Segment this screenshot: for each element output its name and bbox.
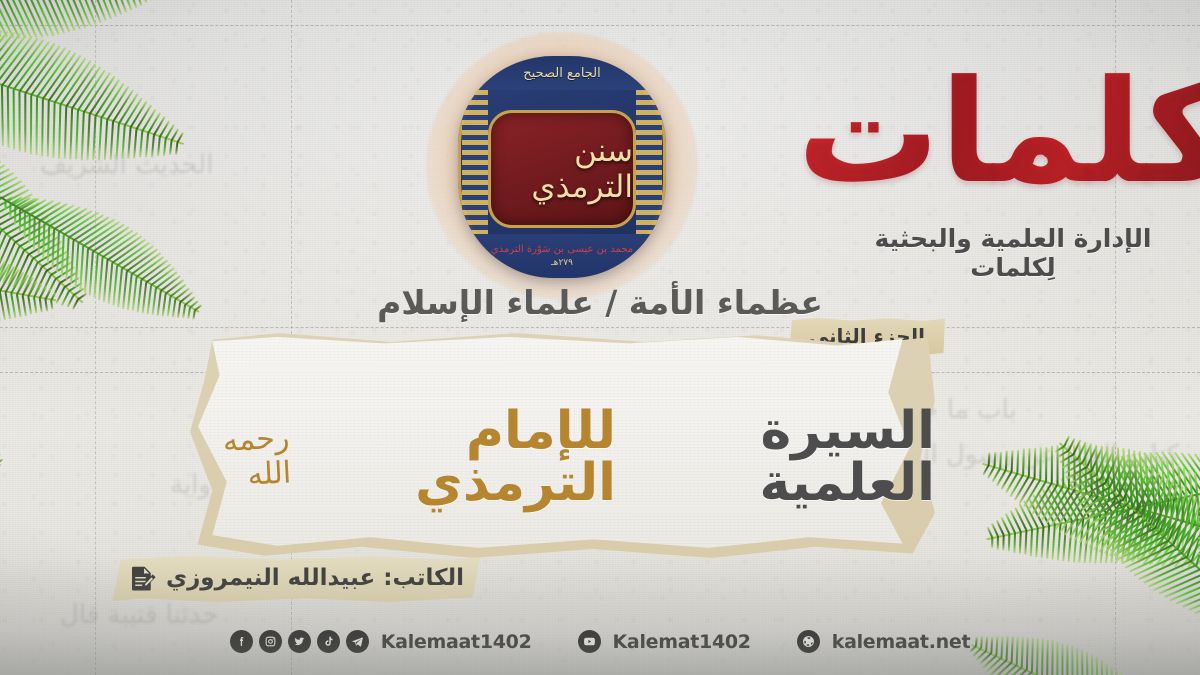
- palm-leaflet: [1094, 514, 1101, 564]
- palm-leaflet: [0, 189, 30, 216]
- palm-leaflet: [42, 52, 77, 100]
- palm-leaflet: [1057, 522, 1062, 560]
- palm-leaflet: [1103, 519, 1147, 543]
- palm-leaflet: [30, 95, 32, 154]
- palm-leaflet: [131, 252, 161, 275]
- palm-leaflet: [39, 0, 60, 35]
- palm-leaflet: [1123, 461, 1141, 499]
- palm-leaflet: [139, 131, 143, 158]
- palm-leaflet: [68, 214, 105, 239]
- book-year-line: ٢٧٩هـ: [551, 258, 573, 268]
- honorific-calligraphy: رحمه الله: [188, 420, 292, 495]
- palm-leaflet: [1042, 488, 1062, 523]
- palm-leaflet: [15, 197, 32, 208]
- palm-leaflet: [102, 232, 139, 258]
- palm-leaflet: [92, 226, 129, 252]
- title-card: السيرة العلمية للإمام الترمذي رحمه الله: [190, 333, 935, 558]
- palm-leaflet: [124, 97, 143, 127]
- palm-leaflet: [1104, 507, 1139, 555]
- palm-leaflet: [98, 0, 112, 19]
- social-group-website: kalemaat.net: [797, 630, 971, 653]
- palm-leaflet: [1030, 529, 1033, 557]
- palm-leaflet: [0, 0, 8, 38]
- palm-leaflet: [27, 0, 49, 37]
- palm-leaflet: [1126, 454, 1158, 502]
- palm-leaflet: [33, 218, 36, 249]
- social-group-youtube: Kalemat1402: [578, 630, 751, 653]
- palm-leaflet: [1176, 584, 1200, 604]
- telegram-icon[interactable]: [346, 630, 369, 653]
- palm-leaflet: [1148, 564, 1197, 588]
- palm-leaflet: [121, 245, 154, 269]
- palm-leaflet: [41, 99, 44, 156]
- palm-leaflet: [0, 193, 33, 219]
- palm-leaflet: [74, 243, 79, 287]
- palm-leaflet: [1019, 531, 1022, 554]
- palm-leaflet: [1150, 454, 1157, 512]
- social-group-main: Kalemaat1402: [230, 630, 532, 653]
- palm-leaflet: [991, 467, 1001, 482]
- palm-leaflet: [86, 0, 102, 23]
- palm-leaflet: [1117, 447, 1122, 502]
- palm-leaflet: [58, 210, 93, 234]
- palm-leaflet: [1121, 508, 1130, 563]
- palm-leaflet: [51, 229, 55, 268]
- palm-leaflet: [1013, 532, 1016, 553]
- palm-leaflet: [1051, 524, 1056, 560]
- palm-leaflet: [116, 242, 150, 267]
- palm-leaflet: [82, 221, 120, 247]
- palm-leaflet: [4, 201, 6, 210]
- palm-leaflet: [1037, 491, 1056, 524]
- palm-leaflet: [1064, 493, 1093, 535]
- palm-leaflet: [1195, 514, 1200, 565]
- palm-leaflet: [1093, 503, 1127, 550]
- palm-leaflet: [1000, 516, 1010, 533]
- palm-leaflet: [87, 224, 125, 250]
- palm-leaflet: [991, 537, 993, 548]
- palm-leaflet: [118, 93, 139, 124]
- ghost-text-line: حدثنا قتيبة قال: [60, 600, 218, 630]
- palm-leaflet: [86, 114, 90, 160]
- book-top-band-text: الجامع الصحيح: [523, 66, 601, 81]
- palm-leaflet: [1191, 510, 1200, 561]
- palm-leaflet: [1090, 502, 1129, 524]
- palm-leaflet: [1131, 515, 1167, 563]
- palm-leaflet: [1024, 530, 1027, 555]
- palm-leaflet: [987, 466, 996, 479]
- palm-leaflet: [1138, 556, 1188, 581]
- palm-leaflet: [1065, 475, 1090, 517]
- palm-leaflet: [133, 130, 137, 159]
- book-cover: الجامع الصحيح سنن الترمذي محمد بن عيسى ب…: [458, 56, 666, 278]
- palm-leaflet: [0, 202, 40, 227]
- palm-leaflet: [1010, 510, 1022, 532]
- palm-leaflet: [9, 204, 11, 218]
- palm-leaflet: [1032, 494, 1050, 525]
- palm-leaflet: [1039, 447, 1042, 479]
- palm-leaflet: [1122, 448, 1127, 504]
- palm-leaflet: [145, 133, 149, 157]
- palm-leaflet: [1072, 474, 1097, 490]
- palm-leaflet: [1193, 492, 1200, 540]
- palm-leaflet: [104, 0, 117, 17]
- palm-leaflet: [1014, 475, 1030, 500]
- social-handle-website[interactable]: kalemaat.net: [832, 631, 971, 653]
- palm-leaflet: [159, 120, 171, 138]
- palm-leaflet: [1081, 650, 1084, 675]
- palm-leaflet: [10, 196, 23, 205]
- series-label: عظماء الأمة / علماء الإسلام: [0, 283, 1200, 322]
- palm-leaflet: [1180, 528, 1200, 568]
- palm-leaflet: [1188, 592, 1200, 610]
- palm-leaflet: [24, 199, 47, 214]
- palm-leaflet: [1131, 505, 1141, 560]
- palm-leaflet: [80, 0, 96, 25]
- title-part-dark: السيرة العلمية: [626, 405, 935, 509]
- palm-leaflet: [1161, 451, 1192, 495]
- palm-leaflet: [1077, 441, 1087, 458]
- globe-web-icon[interactable]: [797, 630, 820, 653]
- palm-leaflet: [1050, 489, 1076, 527]
- palm-leaflet: [1114, 510, 1150, 558]
- palm-leaflet: [991, 523, 999, 536]
- book-top-band: الجامع الصحيح: [458, 56, 666, 90]
- palm-leaflet: [1155, 480, 1175, 529]
- palm-leaflet: [1148, 502, 1159, 558]
- palm-leaflet: [36, 50, 71, 98]
- palm-leaflet: [0, 180, 22, 207]
- palm-leaflet: [1132, 453, 1164, 501]
- palm-leaflet: [979, 652, 992, 665]
- palm-leaflet: [18, 92, 20, 152]
- palm-leaflet: [1143, 518, 1179, 564]
- palm-leaflet: [23, 230, 57, 251]
- palm-leaflet: [1164, 486, 1184, 536]
- palm-leaflet: [1064, 436, 1071, 447]
- palm-leaflet: [30, 47, 66, 96]
- palm-leaflet: [151, 135, 155, 157]
- palm-leaflet: [1172, 462, 1179, 519]
- palm-leaflet: [1062, 521, 1067, 561]
- facebook-icon[interactable]: [230, 630, 253, 653]
- palm-leaflet: [89, 76, 116, 115]
- guide-line-horizontal: [0, 25, 1200, 26]
- palm-leaflet: [65, 238, 69, 281]
- palm-leaflet: [1055, 480, 1078, 519]
- brand-tagline: الإدارة العلمية والبحثية لِكلمات: [848, 224, 1178, 282]
- palm-leaf: [0, 101, 84, 305]
- palm-rachis: [986, 476, 1200, 540]
- palm-leaflet: [39, 203, 68, 222]
- palm-rachis: [0, 101, 84, 303]
- palm-leaflet: [1106, 523, 1152, 548]
- palm-leaflet: [0, 164, 6, 191]
- palm-leaflet: [1096, 511, 1138, 534]
- palm-leaflet: [1121, 455, 1153, 503]
- palm-leaflet: [92, 116, 96, 160]
- palm-leaflet: [1110, 510, 1118, 563]
- palm-leaflet: [41, 251, 68, 268]
- author-label: الكاتب: عبيدالله النيمروزي: [166, 565, 464, 591]
- palm-leaflet: [157, 137, 161, 156]
- palm-leaflet: [1143, 452, 1175, 499]
- palm-leaflet: [69, 109, 73, 160]
- palm-leaf: [986, 475, 1200, 541]
- palm-leaflet: [1074, 478, 1101, 495]
- palm-leaflet: [1114, 457, 1130, 492]
- palm-leaflet: [7, 39, 45, 88]
- palm-leaflet: [1016, 449, 1019, 472]
- palm-leaflet: [0, 184, 26, 211]
- palm-leaflet: [56, 232, 60, 272]
- palm-leaflet: [122, 0, 133, 10]
- palm-leaflet: [37, 245, 66, 263]
- palm-leaflet: [1023, 479, 1042, 508]
- palm-leaflet: [1002, 669, 1028, 675]
- palm-leaflet: [1149, 452, 1181, 498]
- palm-leaflet: [1161, 458, 1168, 516]
- palm-leaflet: [7, 88, 10, 148]
- palm-leaflet: [52, 103, 55, 158]
- palm-leaflet: [165, 124, 175, 140]
- brand-wordmark: كلمات: [848, 48, 1178, 218]
- palm-leaflet: [1115, 670, 1119, 675]
- palm-leaflet: [1069, 495, 1099, 538]
- palm-leaflet: [141, 108, 157, 132]
- palm-leaflet: [23, 213, 26, 238]
- palm-leaflet: [1173, 493, 1193, 544]
- palm-leaflet: [46, 256, 71, 272]
- guide-line-vertical: [95, 0, 96, 675]
- palm-leaflet: [1022, 449, 1025, 475]
- palm-leaflet: [1036, 484, 1058, 518]
- palm-leaflet: [7, 250, 25, 286]
- palm-leaflet: [1028, 497, 1045, 526]
- palm-leaflet: [55, 266, 76, 280]
- palm-leaflet: [982, 654, 997, 668]
- palm-leaflet: [999, 451, 1002, 467]
- palm-leaflet: [1084, 445, 1087, 493]
- palm-leaflet: [1068, 438, 1076, 451]
- palm-leaflet: [141, 260, 169, 281]
- palm-leaflet: [1055, 490, 1082, 530]
- palm-leaflet: [106, 86, 129, 121]
- palm-leaflet: [1150, 477, 1170, 524]
- twitter-icon[interactable]: [288, 630, 311, 653]
- palm-leaflet: [170, 128, 179, 142]
- palm-leaflet: [1110, 666, 1114, 675]
- palm-leaflet: [1090, 445, 1093, 494]
- palm-leaflet: [1009, 474, 1024, 497]
- palm-leaflet: [992, 662, 1013, 675]
- palm-leaflet: [1068, 445, 1071, 487]
- palm-leaflet: [1109, 527, 1156, 552]
- palm-leaflet: [1142, 503, 1152, 559]
- youtube-icon[interactable]: [578, 630, 601, 653]
- author-badge: الكاتب: عبيدالله النيمروزي: [113, 556, 480, 602]
- palm-leaflet: [35, 97, 38, 155]
- ghost-text-line: الحديث الشريف: [40, 150, 213, 180]
- palm-leaflet: [121, 126, 126, 159]
- palm-leaflet: [115, 124, 120, 160]
- palm-leaflet: [1083, 500, 1115, 546]
- palm-leaflet: [68, 0, 86, 29]
- palm-leaflet: [0, 33, 21, 81]
- palm-leaflet: [1104, 453, 1119, 484]
- palm-leaflet: [169, 141, 173, 156]
- palm-leaflet: [987, 526, 994, 537]
- palm-leaflet: [1023, 500, 1038, 528]
- palm-leaflet: [1018, 477, 1035, 504]
- palm-leaflet: [53, 208, 87, 231]
- palm-leaflet: [1194, 473, 1200, 526]
- palm-leaflet: [995, 664, 1017, 675]
- brand-wordmark-text: كلمات: [797, 62, 1200, 204]
- palm-leaflet: [127, 128, 132, 159]
- palm-leaflet: [50, 261, 73, 276]
- palm-leaflet: [999, 666, 1023, 675]
- palm-leaflet: [1073, 519, 1079, 563]
- palm-leaflet: [1091, 447, 1104, 471]
- palm-leaflet: [1079, 468, 1107, 513]
- palm-leaflet: [1067, 520, 1073, 562]
- footer-social-bar: Kalemaat1402 Kalemat1402 kalemaat.net: [0, 630, 1200, 653]
- palm-leaflet: [97, 229, 134, 255]
- palm-leaflet: [61, 235, 65, 277]
- palm-leaflet: [92, 0, 107, 21]
- palm-leaflet: [1133, 552, 1183, 577]
- palm-leaflet: [997, 536, 999, 550]
- palm-rachis: [0, 336, 1, 466]
- palm-leaflet: [57, 0, 76, 32]
- palm-rachis: [1059, 442, 1200, 638]
- palm-leaflet: [1182, 588, 1200, 607]
- palm-leaflet: [1067, 466, 1088, 480]
- palm-leaflet: [1106, 663, 1110, 675]
- social-handle-youtube[interactable]: Kalemat1402: [613, 631, 751, 653]
- palm-leaflet: [1095, 449, 1108, 475]
- palm-leaflet: [1168, 490, 1188, 541]
- palm-leaflet: [14, 207, 16, 225]
- palm-leaflet: [32, 240, 63, 259]
- palm-leaflet: [21, 0, 43, 38]
- title-part-gold: للإمام الترمذي: [306, 405, 616, 509]
- palm-leaflet: [147, 112, 161, 134]
- social-handle-main[interactable]: Kalemaat1402: [381, 631, 532, 653]
- palm-leaflet: [1105, 459, 1136, 507]
- palm-leaflet: [1111, 446, 1116, 500]
- palm-leaflet: [1155, 521, 1191, 566]
- palm-leaflet: [1143, 560, 1193, 584]
- palm-leaflet: [1019, 504, 1033, 530]
- palm-leaflet: [1062, 457, 1079, 468]
- palm-leaflet: [1175, 496, 1186, 548]
- palm-leaflet: [1161, 523, 1196, 567]
- title-row: السيرة العلمية للإمام الترمذي رحمه الله: [190, 405, 935, 509]
- palm-leaflet: [1089, 464, 1118, 511]
- palm-leaflet: [77, 69, 106, 111]
- palm-leaflet: [1110, 458, 1141, 506]
- palm-leaflet: [1120, 512, 1156, 560]
- guide-line-horizontal: [0, 327, 1200, 328]
- palm-leaflet: [133, 0, 142, 6]
- palm-leaflet: [1149, 520, 1185, 566]
- instagram-icon[interactable]: [259, 630, 282, 653]
- palm-leaflet: [1182, 501, 1200, 553]
- palm-leaflet: [81, 113, 85, 161]
- palm-leaflet: [1074, 497, 1105, 541]
- palm-leaflet: [1153, 501, 1164, 556]
- palm-frond-top-left: [0, 0, 370, 380]
- book-cover-image: الجامع الصحيح سنن الترمذي محمد بن عيسى ب…: [436, 42, 688, 290]
- palm-leaflet: [19, 198, 39, 211]
- palm-leaflet: [19, 43, 56, 92]
- palm-leaflet: [1105, 512, 1113, 564]
- palm-leaflet: [1129, 547, 1179, 572]
- palm-leaflet: [0, 230, 2, 274]
- palm-leaflet: [1082, 443, 1093, 463]
- palm-leaflet: [74, 0, 91, 27]
- palm-leaflet: [1181, 495, 1192, 546]
- palm-leaflet: [1194, 531, 1200, 568]
- palm-leaflet: [1095, 445, 1099, 496]
- palm-rachis: [0, 0, 169, 3]
- palm-leaflet: [1166, 460, 1173, 517]
- palm-leaflet: [104, 120, 109, 160]
- palm-leaflet: [993, 452, 996, 466]
- palm-leaflet: [1073, 440, 1082, 455]
- palm-leaflet: [5, 196, 14, 202]
- palm-rachis: [982, 463, 1200, 553]
- palm-leaflet: [63, 212, 99, 236]
- palm-leaflet: [0, 31, 9, 77]
- palm-leaflet: [1045, 487, 1070, 524]
- palm-leaflet: [1060, 453, 1075, 463]
- palm-frond-left-lower: [0, 215, 110, 435]
- palm-leaflet: [94, 79, 120, 117]
- palm-leaflet: [83, 72, 111, 113]
- palm-leaflet: [1035, 527, 1039, 557]
- palm-leaflet: [1187, 493, 1198, 543]
- palm-leaflet: [1094, 462, 1124, 509]
- palm-leaflet: [0, 32, 15, 79]
- brand-logo: كلمات الإدارة العلمية والبحثية لِكلمات: [848, 48, 1178, 282]
- palm-leaflet: [1082, 490, 1115, 510]
- palm-leaflet: [1096, 657, 1099, 675]
- palm-leaflet: [54, 57, 87, 103]
- palm-leaflet: [1128, 449, 1133, 506]
- palm-leaflet: [24, 94, 26, 153]
- palm-leaflet: [1083, 516, 1090, 563]
- tiktok-icon[interactable]: [317, 630, 340, 653]
- palm-leaflet: [0, 172, 14, 199]
- palm-leaflet: [0, 198, 36, 224]
- palm-leaflet: [47, 101, 50, 157]
- palm-leaflet: [116, 0, 128, 13]
- palm-leaflet: [24, 45, 61, 94]
- palm-leaflet: [1045, 446, 1048, 480]
- palm-leaflet: [0, 36, 33, 85]
- palm-leaf: [0, 335, 2, 467]
- palm-leaflet: [1041, 526, 1045, 558]
- palm-leaflet: [1115, 509, 1124, 563]
- palm-leaflet: [1168, 452, 1198, 495]
- palm-leaflet: [1, 86, 4, 146]
- palm-leaflet: [1091, 654, 1094, 675]
- palm-leaflet: [1099, 513, 1107, 564]
- palm-leaflet: [1041, 485, 1064, 520]
